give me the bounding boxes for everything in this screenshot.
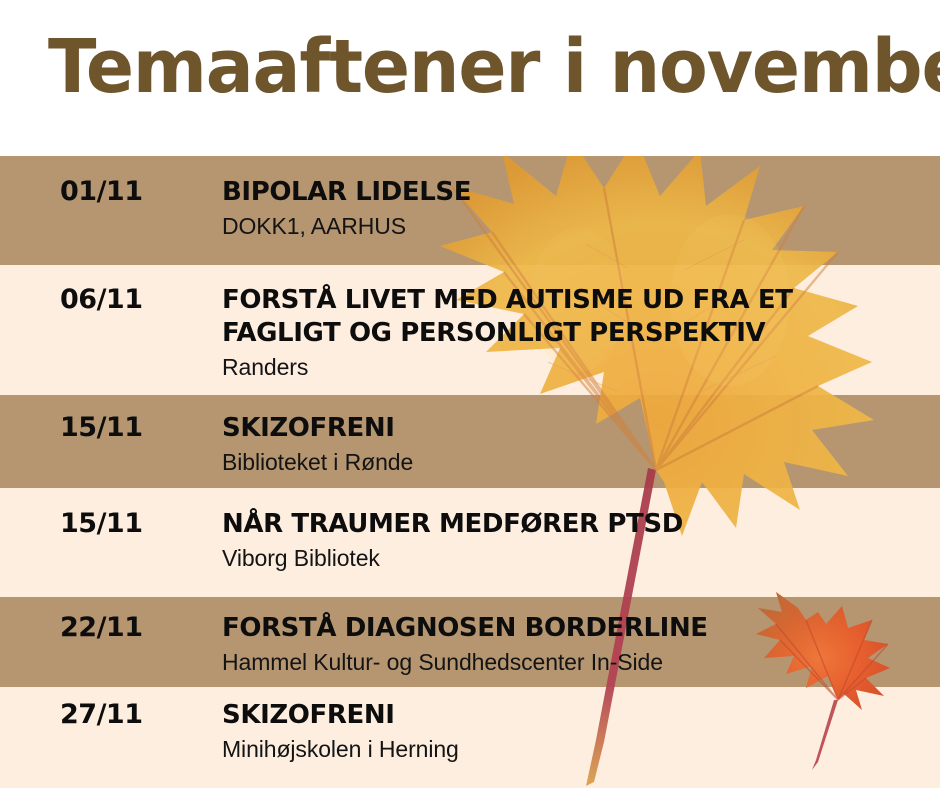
event-body: FORSTÅ LIVET MED AUTISME UD FRA ET FAGLI… bbox=[222, 284, 930, 382]
event-title: FORSTÅ DIAGNOSEN BORDERLINE bbox=[222, 612, 930, 645]
event-body: SKIZOFRENI Minihøjskolen i Herning bbox=[222, 699, 930, 764]
event-date: 27/11 bbox=[60, 699, 143, 731]
event-venue: Viborg Bibliotek bbox=[222, 543, 930, 573]
event-venue: DOKK1, AARHUS bbox=[222, 211, 930, 241]
event-title: SKIZOFRENI bbox=[222, 699, 930, 732]
event-date: 01/11 bbox=[60, 176, 143, 208]
poster-canvas: 01/11 BIPOLAR LIDELSE DOKK1, AARHUS 06/1… bbox=[0, 0, 940, 788]
event-body: SKIZOFRENI Biblioteket i Rønde bbox=[222, 412, 930, 477]
event-body: BIPOLAR LIDELSE DOKK1, AARHUS bbox=[222, 176, 930, 241]
event-date: 15/11 bbox=[60, 412, 143, 444]
page-title: Temaaftener i november bbox=[48, 26, 940, 108]
event-venue: Biblioteket i Rønde bbox=[222, 447, 930, 477]
event-date: 06/11 bbox=[60, 284, 143, 316]
event-title: BIPOLAR LIDELSE bbox=[222, 176, 930, 209]
event-title: NÅR TRAUMER MEDFØRER PTSD bbox=[222, 508, 930, 541]
event-date: 22/11 bbox=[60, 612, 143, 644]
event-venue: Randers bbox=[222, 352, 930, 382]
event-date: 15/11 bbox=[60, 508, 143, 540]
event-body: FORSTÅ DIAGNOSEN BORDERLINE Hammel Kultu… bbox=[222, 612, 930, 677]
event-title: FORSTÅ LIVET MED AUTISME UD FRA ET FAGLI… bbox=[222, 284, 930, 350]
event-venue: Minihøjskolen i Herning bbox=[222, 734, 930, 764]
event-body: NÅR TRAUMER MEDFØRER PTSD Viborg Bibliot… bbox=[222, 508, 930, 573]
poster-header: Temaaftener i november bbox=[0, 0, 940, 156]
event-title: SKIZOFRENI bbox=[222, 412, 930, 445]
event-venue: Hammel Kultur- og Sundhedscenter In-Side bbox=[222, 647, 930, 677]
